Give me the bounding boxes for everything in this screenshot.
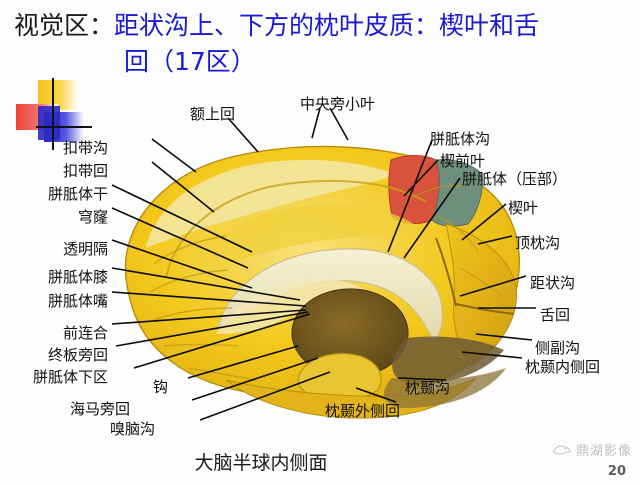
title-main: 距状沟上、下方的枕叶皮质：楔叶和舌: [114, 11, 539, 40]
bird-icon: [552, 443, 572, 457]
figure-caption-text: 大脑半球内侧面: [194, 452, 327, 474]
label-left-5: 胼胝体膝: [48, 266, 108, 287]
title-line-1: 视觉区：距状沟上、下方的枕叶皮质：楔叶和舌: [14, 8, 626, 44]
label-left-3: 穹窿: [78, 206, 108, 227]
label-bottom-3: 枕颞沟: [405, 377, 450, 398]
label-bottom-2: 嗅脑沟: [110, 418, 155, 439]
logo-horizontal-line: [36, 126, 92, 128]
label-top-0: 额上回: [190, 103, 235, 124]
label-left-4: 透明隔: [63, 238, 108, 259]
title-continuation: 回（17区）: [124, 47, 256, 76]
title-prefix: 视觉区：: [14, 11, 114, 40]
label-right-5: 距状沟: [530, 272, 575, 293]
label-bottom-4: 枕颞外侧回: [325, 400, 400, 421]
label-left-9: 胼胝体下区: [33, 366, 108, 387]
label-right-3: 楔叶: [508, 197, 538, 218]
label-bottom-1: 海马旁回: [70, 398, 130, 419]
label-right-0: 胼胝体沟: [430, 128, 490, 149]
label-right-2: 胼胝体（压部）: [462, 168, 567, 189]
label-left-0: 扣带沟: [63, 137, 108, 158]
title-line-2: 回（17区）: [124, 44, 626, 80]
slide-canvas: 视觉区：距状沟上、下方的枕叶皮质：楔叶和舌 回（17区）: [0, 0, 640, 485]
label-left-6: 胼胝体嘴: [48, 290, 108, 311]
watermark: 鼎湖影像: [552, 440, 632, 459]
label-right-4: 顶枕沟: [515, 232, 560, 253]
label-right-6: 舌回: [540, 304, 570, 325]
slide-title: 视觉区：距状沟上、下方的枕叶皮质：楔叶和舌 回（17区）: [14, 8, 626, 80]
label-left-1: 扣带回: [63, 160, 108, 181]
label-left-8: 终板旁回: [48, 344, 108, 365]
logo-vertical-line: [52, 78, 54, 150]
label-top-1: 中央旁小叶: [300, 93, 375, 114]
label-right-7: 侧副沟: [535, 337, 580, 358]
label-right-8: 枕颞内侧回: [525, 356, 600, 377]
label-bottom-0: 钩: [153, 376, 168, 397]
label-left-2: 胼胝体干: [48, 183, 108, 204]
logo-blue-block-2: [38, 106, 60, 140]
watermark-text: 鼎湖影像: [576, 440, 632, 459]
label-left-7: 前连合: [63, 322, 108, 343]
figure-caption: 大脑半球内侧面: [0, 448, 640, 475]
page-number: 20: [608, 464, 626, 479]
